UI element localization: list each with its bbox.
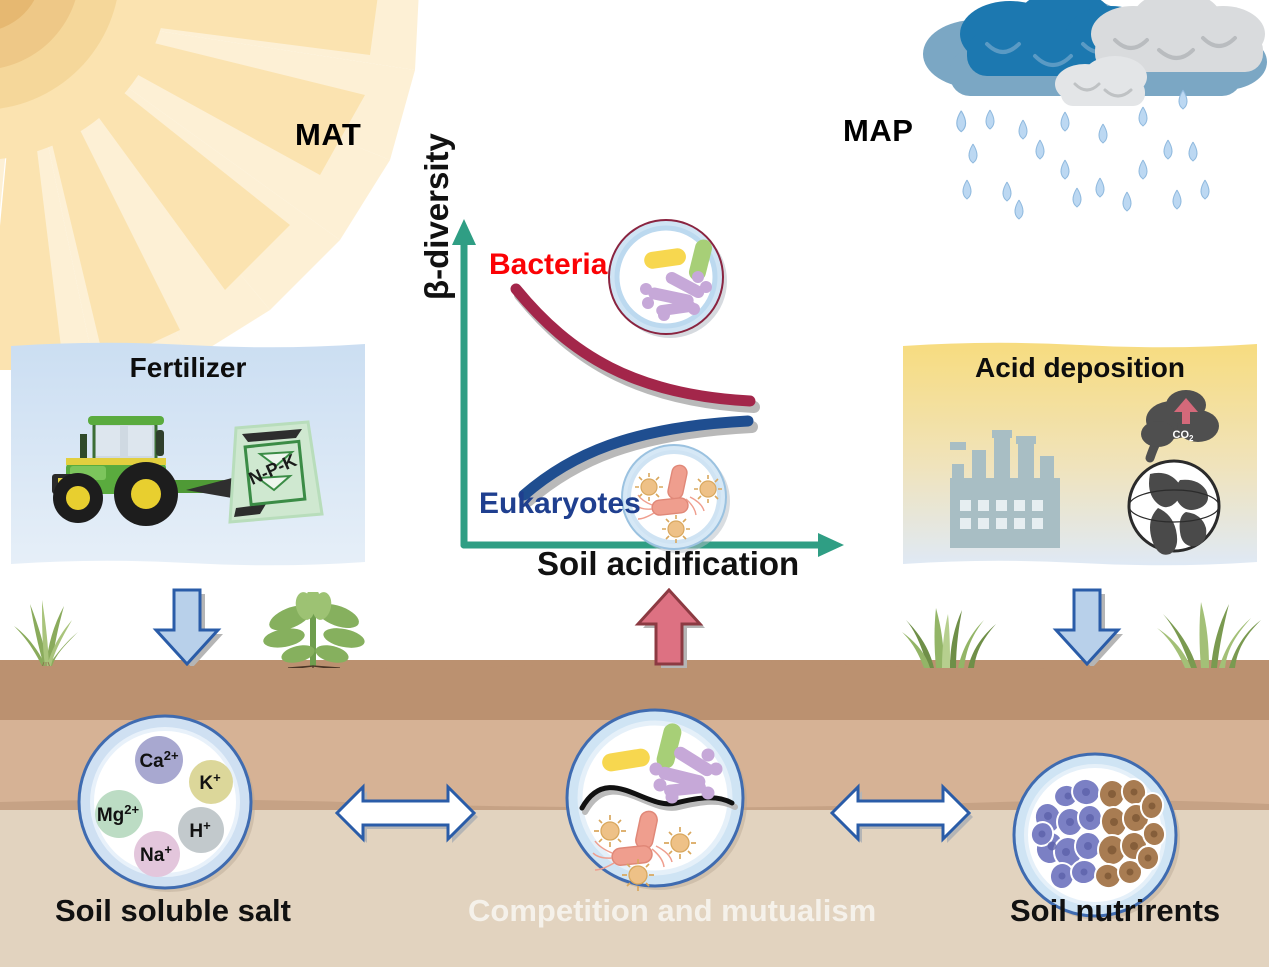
legend-eukaryotes: Eukaryotes [479, 487, 641, 521]
sun-icon [0, 0, 420, 370]
label-soil-nutrients: Soil nutrirents [1010, 893, 1220, 929]
arrow-exchange-right [828, 783, 973, 843]
panel-acid-title: Acid deposition [900, 352, 1260, 384]
co2-main: CO [1173, 429, 1190, 441]
arrow-fertilizer-down [148, 586, 226, 666]
plant-grass-mid-right [898, 608, 1006, 668]
panel-acid-deposition: CO2 Acid deposition [900, 340, 1260, 570]
figure-canvas: MAT MAP [0, 0, 1269, 967]
panel-fertilizer: N-P-K Fertilizer [8, 340, 368, 570]
arrow-exchange-left [333, 783, 478, 843]
dish-competition-mutualism [560, 703, 750, 893]
beta-diversity-chart [420, 205, 860, 585]
plant-grass-right [1155, 600, 1265, 668]
arrow-acidification-up [632, 588, 706, 668]
label-map: MAP [843, 113, 913, 149]
chart-xlabel: Soil acidification [537, 545, 799, 583]
label-soil-soluble-salt: Soil soluble salt [55, 893, 291, 929]
cloud-rain-icon [915, 0, 1269, 242]
fertilizer-bag-icon: N-P-K [230, 422, 322, 522]
ion-h: H+ [178, 807, 224, 853]
co2-sub: 2 [1189, 434, 1194, 443]
ion-k: K+ [189, 760, 233, 804]
dish-soil-soluble-salt: Ca2+ K+ Mg2+ H+ Na+ [73, 710, 258, 895]
label-mat: MAT [295, 117, 361, 153]
legend-bacteria: Bacteria [489, 248, 607, 282]
ion-ca: Ca2+ [135, 736, 183, 784]
dish-bacteria [609, 220, 727, 338]
chart-ylabel: β-diversity [418, 100, 456, 300]
panel-fertilizer-title: Fertilizer [8, 352, 368, 384]
label-competition-mutualism: Competition and mutualism [468, 893, 876, 929]
ion-na: Na+ [134, 831, 180, 877]
ion-mg: Mg2+ [95, 790, 143, 838]
plant-leafy-left [258, 592, 370, 668]
plant-grass-left [8, 598, 82, 666]
arrow-acid-down [1048, 586, 1126, 666]
